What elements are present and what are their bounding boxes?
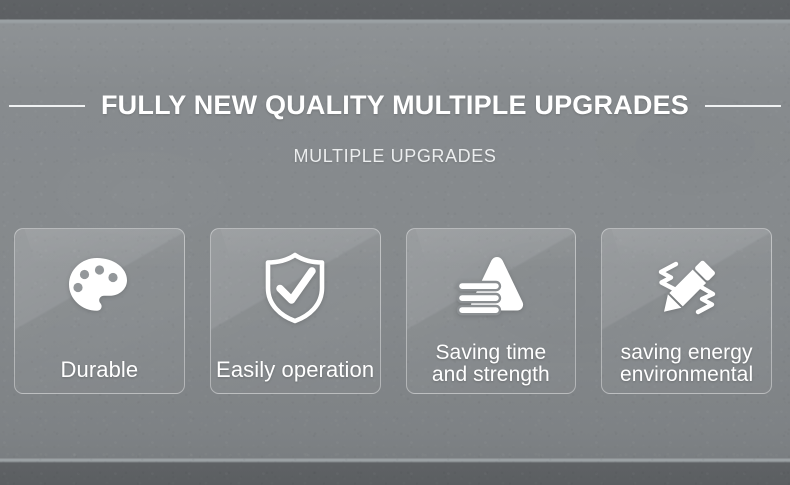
feature-card-label-line1: saving energy <box>621 341 753 364</box>
feature-card-label: Saving time and strength <box>407 342 576 385</box>
palette-icon <box>63 249 135 327</box>
triangle-bars-icon <box>454 249 528 327</box>
feature-card-label-line1: Saving time <box>435 341 546 364</box>
page-subtitle: MULTIPLE UPGRADES <box>0 146 790 167</box>
feature-card-label: Easily operation <box>211 359 380 381</box>
feature-card-label-line2: and strength <box>411 364 572 385</box>
promo-banner: FULLY NEW QUALITY MULTIPLE UPGRADES MULT… <box>0 0 790 485</box>
feature-card-label-line2: environmental <box>606 364 767 385</box>
feature-card-saving-time[interactable]: Saving time and strength <box>406 228 577 394</box>
feature-card-durable[interactable]: Durable <box>14 228 185 394</box>
pencil-writing-icon <box>649 249 725 327</box>
heading-rule-right-icon <box>705 105 781 107</box>
heading-rule-left-icon <box>9 105 85 107</box>
feature-card-easily-operation[interactable]: Easily operation <box>210 228 381 394</box>
feature-card-saving-energy[interactable]: saving energy environmental <box>601 228 772 394</box>
page-title: FULLY NEW QUALITY MULTIPLE UPGRADES <box>101 90 689 121</box>
heading-row: FULLY NEW QUALITY MULTIPLE UPGRADES <box>0 90 790 121</box>
shield-check-icon <box>260 249 330 327</box>
feature-card-label: saving energy environmental <box>602 342 771 385</box>
feature-card-list: Durable Easily operation <box>14 228 772 394</box>
feature-card-label: Durable <box>15 359 184 381</box>
